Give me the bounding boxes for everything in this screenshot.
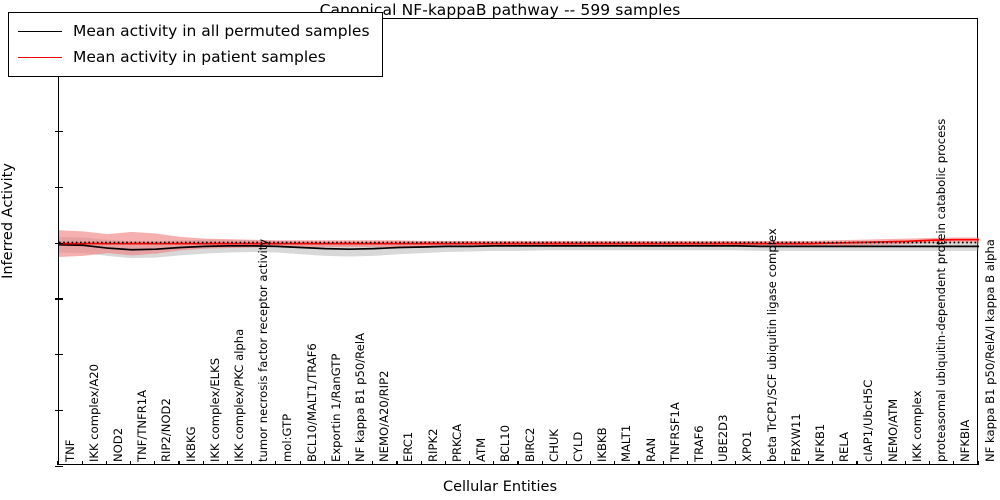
x-tick-mark xyxy=(784,461,785,465)
legend-swatch-icon xyxy=(18,57,62,58)
plot-svg xyxy=(59,19,979,466)
x-tick-label: BCL10/MALT1/TRAF6 xyxy=(305,343,319,462)
x-tick-label: NFKBIA xyxy=(958,420,972,462)
x-tick-mark xyxy=(687,461,688,465)
chart-figure: Canonical NF-kappaB pathway -- 599 sampl… xyxy=(0,0,1000,500)
x-tick-mark xyxy=(542,461,543,465)
x-tick-label: IKK complex/A20 xyxy=(87,364,101,462)
x-tick-label: mol:GTP xyxy=(280,414,294,462)
x-tick-mark xyxy=(324,461,325,465)
x-tick-label: proteasomal ubiquitin-dependent protein … xyxy=(934,119,948,462)
y-tick-mark-inner xyxy=(59,354,63,355)
x-tick-mark xyxy=(711,461,712,465)
x-tick-mark xyxy=(372,461,373,465)
x-tick-label: NEMO/ATM xyxy=(886,399,900,462)
x-tick-mark xyxy=(178,461,179,465)
x-tick-mark xyxy=(881,461,882,465)
x-tick-label: NEMO/A20/RIP2 xyxy=(377,371,391,462)
x-tick-mark xyxy=(832,461,833,465)
x-tick-label: NF kappa B1 p50/RelA/I kappa B alpha xyxy=(983,239,997,462)
x-tick-mark xyxy=(275,461,276,465)
x-tick-mark xyxy=(953,461,954,465)
x-tick-label: MALT1 xyxy=(619,425,633,462)
x-tick-label: IKBKG xyxy=(184,426,198,462)
x-tick-label: NFKB1 xyxy=(813,424,827,462)
x-tick-mark xyxy=(663,461,664,465)
x-tick-mark xyxy=(808,461,809,465)
x-tick-label: IKK complex/PKC alpha xyxy=(232,329,246,462)
x-tick-mark xyxy=(445,461,446,465)
x-tick-mark xyxy=(348,461,349,465)
x-tick-label: CHUK xyxy=(547,429,561,462)
y-tick-mark-inner xyxy=(59,243,63,244)
x-tick-mark xyxy=(154,461,155,465)
x-tick-label: RIPK2 xyxy=(426,429,440,462)
x-tick-label: RAN xyxy=(644,438,658,462)
x-tick-mark xyxy=(396,461,397,465)
x-tick-label: RELA xyxy=(837,432,851,462)
x-tick-mark xyxy=(57,461,58,465)
x-tick-mark xyxy=(130,461,131,465)
x-tick-mark xyxy=(929,461,930,465)
y-tick-mark-inner xyxy=(59,410,63,411)
x-tick-mark xyxy=(760,461,761,465)
x-tick-mark xyxy=(421,461,422,465)
y-tick-mark-inner xyxy=(59,187,63,188)
x-tick-mark xyxy=(566,461,567,465)
x-tick-mark xyxy=(227,461,228,465)
x-tick-label: ERC1 xyxy=(401,432,415,462)
x-tick-label: NOD2 xyxy=(111,428,125,462)
x-tick-label: FBXW11 xyxy=(789,413,803,462)
x-axis-label: Cellular Entities xyxy=(0,479,1000,495)
x-tick-label: Exportin 1/RanGTP xyxy=(329,354,343,462)
x-tick-mark xyxy=(590,461,591,465)
legend-label: Mean activity in patient samples xyxy=(73,48,326,66)
x-tick-label: UBE2D3 xyxy=(716,415,730,462)
x-tick-mark xyxy=(905,461,906,465)
x-tick-label: IKK complex/ELKS xyxy=(208,358,222,462)
y-tick-mark-inner xyxy=(59,466,63,467)
x-tick-label: BCL10 xyxy=(498,425,512,462)
x-tick-label: TNF/TNFR1A xyxy=(135,390,149,462)
chart-legend: Mean activity in all permuted samplesMea… xyxy=(8,12,383,77)
plot-area: −4−3−2−101234 xyxy=(58,18,978,465)
x-tick-label: IKK complex xyxy=(910,391,924,462)
x-tick-mark xyxy=(614,461,615,465)
x-tick-label: TRAF6 xyxy=(692,425,706,462)
x-tick-mark xyxy=(469,461,470,465)
y-tick-mark-inner xyxy=(59,298,63,299)
x-tick-mark xyxy=(300,461,301,465)
x-tick-label: CYLD xyxy=(571,432,585,462)
legend-entry: Mean activity in patient samples xyxy=(18,44,370,70)
x-tick-mark xyxy=(638,461,639,465)
x-tick-mark xyxy=(203,461,204,465)
x-tick-label: TNFRSF1A xyxy=(668,402,682,462)
x-tick-label: BIRC2 xyxy=(523,428,537,462)
legend-label: Mean activity in all permuted samples xyxy=(73,22,370,40)
x-tick-label: IKBKB xyxy=(595,427,609,462)
x-tick-mark xyxy=(493,461,494,465)
x-tick-mark xyxy=(517,461,518,465)
x-tick-label: cIAP1/UbcH5C xyxy=(861,380,875,462)
x-tick-label: NF kappa B1 p50/RelA xyxy=(353,333,367,462)
x-tick-mark xyxy=(735,461,736,465)
x-tick-mark xyxy=(856,461,857,465)
y-tick-mark-inner xyxy=(59,131,63,132)
x-tick-label: ATM xyxy=(474,438,488,462)
x-tick-mark xyxy=(251,461,252,465)
x-tick-mark xyxy=(106,461,107,465)
x-tick-mark xyxy=(977,461,978,465)
legend-entry: Mean activity in all permuted samples xyxy=(18,18,370,44)
x-tick-label: tumor necrosis factor receptor activity xyxy=(256,239,270,462)
x-tick-label: XPO1 xyxy=(740,431,754,462)
x-tick-mark xyxy=(82,461,83,465)
x-tick-label: PRKCA xyxy=(450,424,464,462)
x-tick-label: RIP2/NOD2 xyxy=(159,398,173,462)
x-tick-label: beta TrCP1/SCF ubiquitin ligase complex xyxy=(765,228,779,462)
x-tick-label: TNF xyxy=(63,440,77,462)
legend-swatch-icon xyxy=(18,31,62,32)
